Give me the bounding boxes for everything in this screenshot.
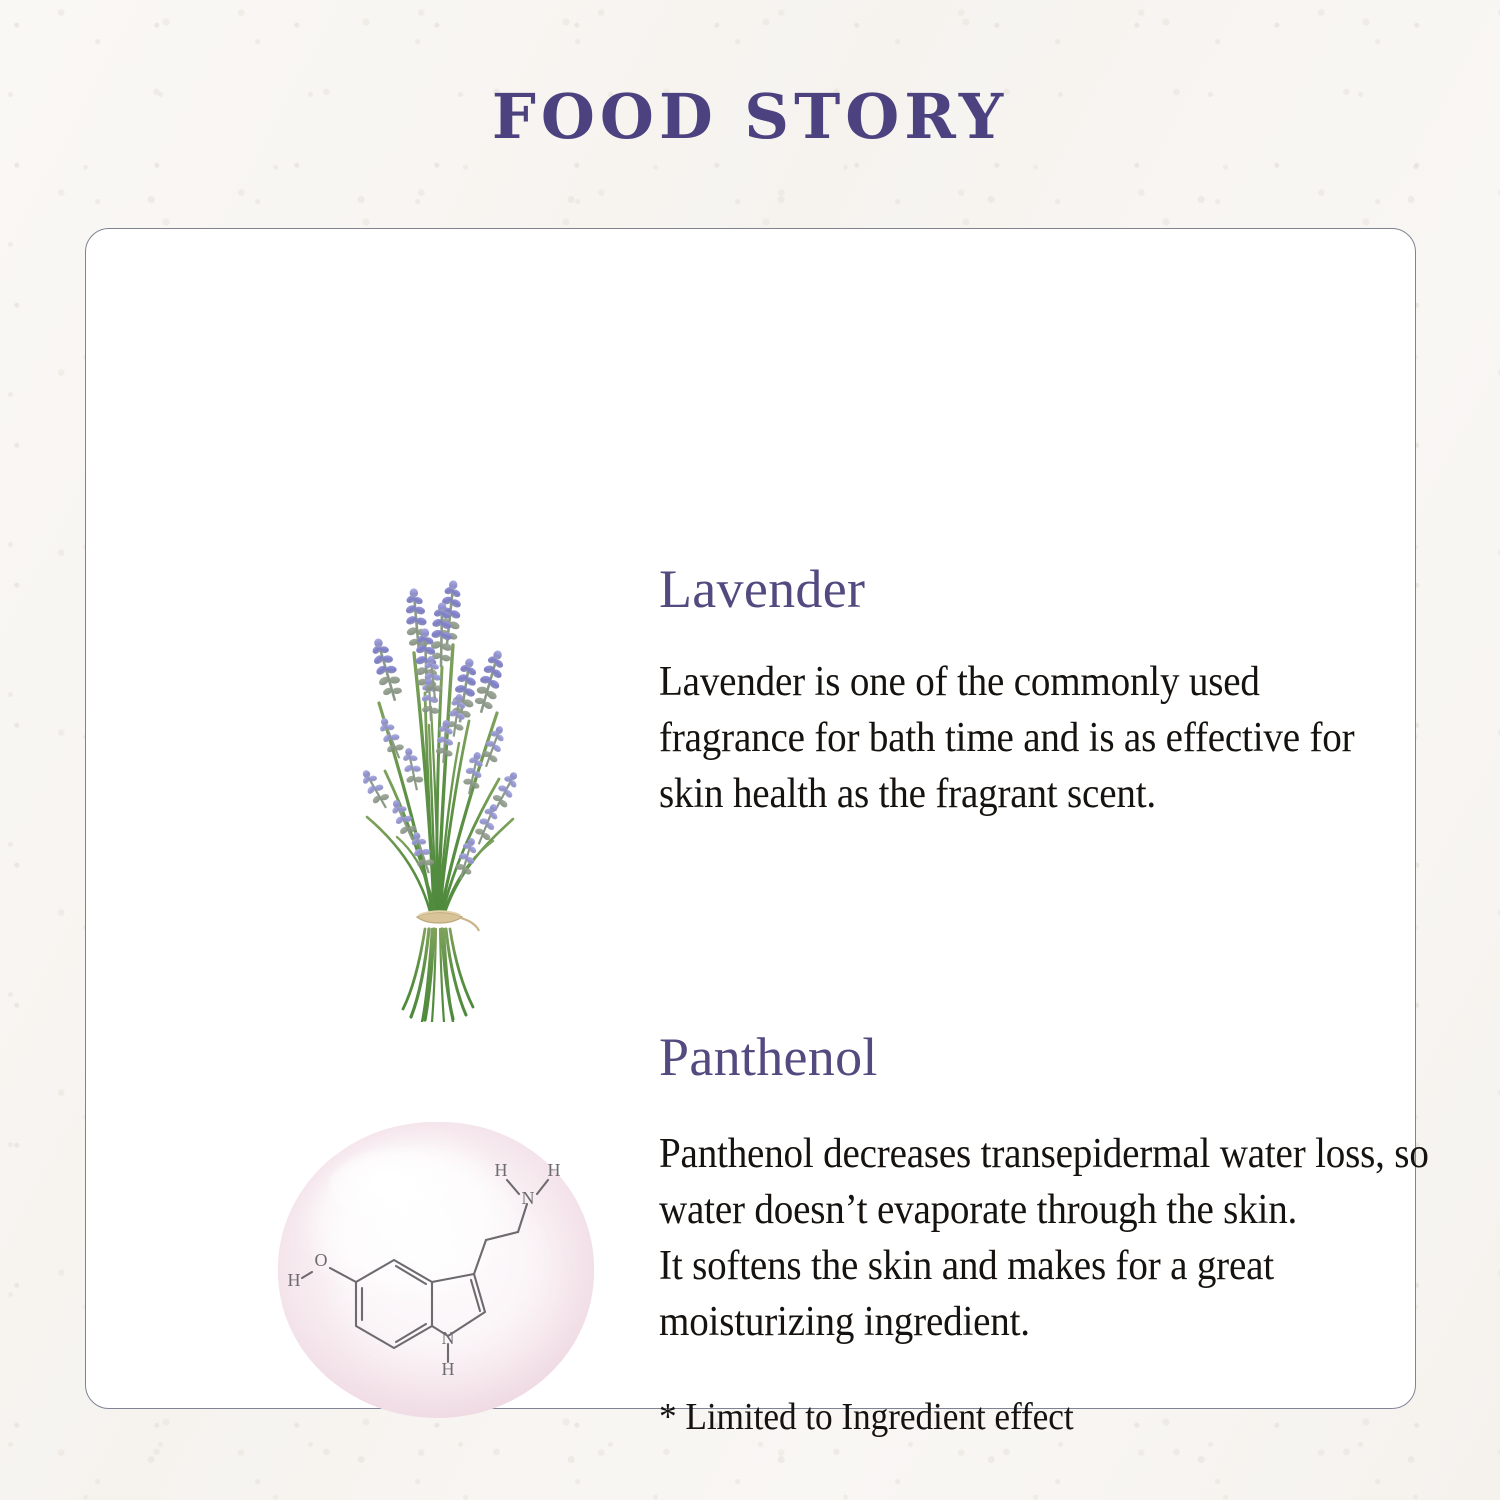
- molecule-label-o: O: [315, 1250, 328, 1270]
- twine-tie: [417, 911, 479, 931]
- molecule-label-n-amine: N: [522, 1188, 535, 1208]
- ingredient-name-lavender: Lavender: [659, 561, 1419, 618]
- ingredient-name-panthenol: Panthenol: [659, 1029, 1439, 1086]
- panthenol-molecule-image: O H N H H N H: [278, 1122, 594, 1418]
- ingredient-description-panthenol: Panthenol decreases transepidermal water…: [659, 1126, 1431, 1351]
- molecule-label-nh2-right: H: [548, 1160, 561, 1180]
- content-card: Lavender Lavender is one of the commonly…: [85, 228, 1416, 1409]
- page-title: FOOD STORY: [0, 86, 1500, 148]
- ingredient-description-lavender: Lavender is one of the commonly used fra…: [659, 654, 1403, 823]
- molecule-label-ho-h: H: [288, 1270, 301, 1290]
- food-story-page: FOOD STORY: [0, 0, 1500, 1500]
- molecule-label-n-indole: N: [442, 1328, 455, 1348]
- molecular-structure-diagram: O H N H H N H: [278, 1122, 594, 1418]
- molecule-label-indole-h: H: [442, 1359, 455, 1379]
- footnote-disclaimer: * Limited to Ingredient effect: [659, 1395, 1384, 1439]
- lavender-bouquet-image: [301, 517, 591, 1022]
- molecule-label-nh2-left: H: [495, 1160, 508, 1180]
